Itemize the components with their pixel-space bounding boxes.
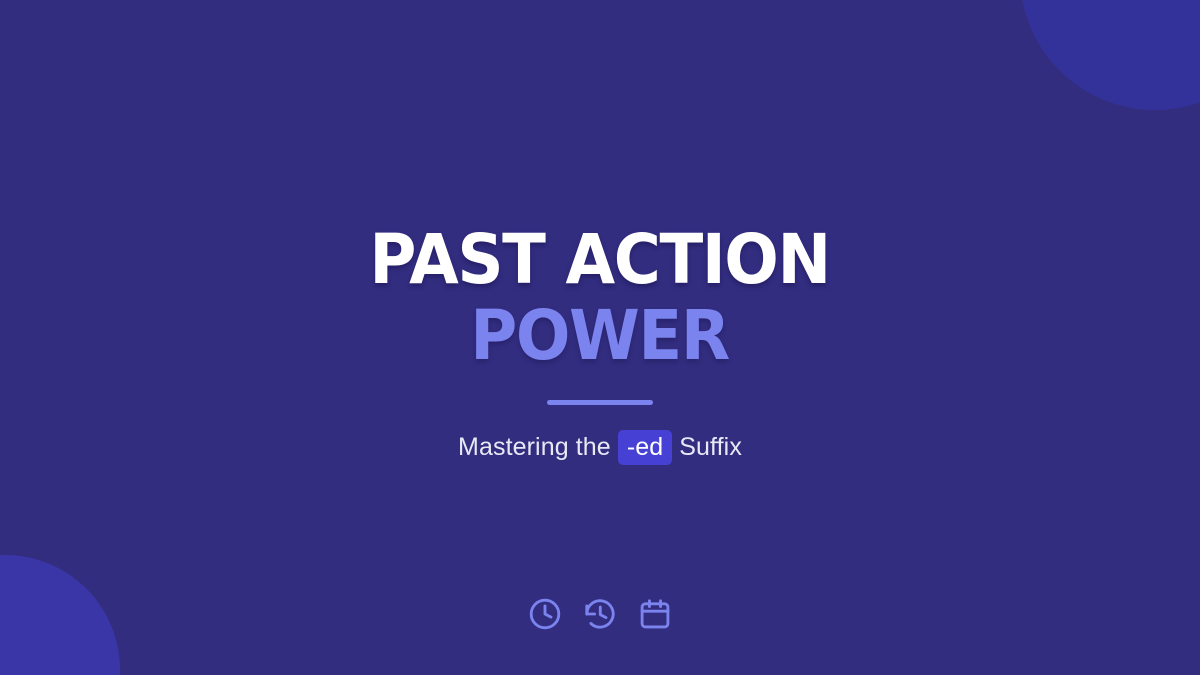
title-line-primary: PAST ACTION xyxy=(370,222,830,298)
subtitle-chip-ed: -ed xyxy=(618,430,672,465)
subtitle: Mastering the -ed Suffix xyxy=(458,430,742,465)
clock-icon xyxy=(527,596,563,632)
page-title: PAST ACTION POWER xyxy=(352,222,847,374)
title-slide: PAST ACTION POWER Mastering the -ed Suff… xyxy=(0,0,1200,675)
subtitle-prefix: Mastering the xyxy=(458,433,611,462)
title-divider xyxy=(547,400,653,405)
icon-row xyxy=(0,596,1200,632)
history-icon xyxy=(582,596,618,632)
title-line-accent: POWER xyxy=(370,298,830,374)
calendar-icon xyxy=(637,596,673,632)
slide-content: PAST ACTION POWER Mastering the -ed Suff… xyxy=(0,0,1200,675)
subtitle-suffix: Suffix xyxy=(679,433,742,462)
